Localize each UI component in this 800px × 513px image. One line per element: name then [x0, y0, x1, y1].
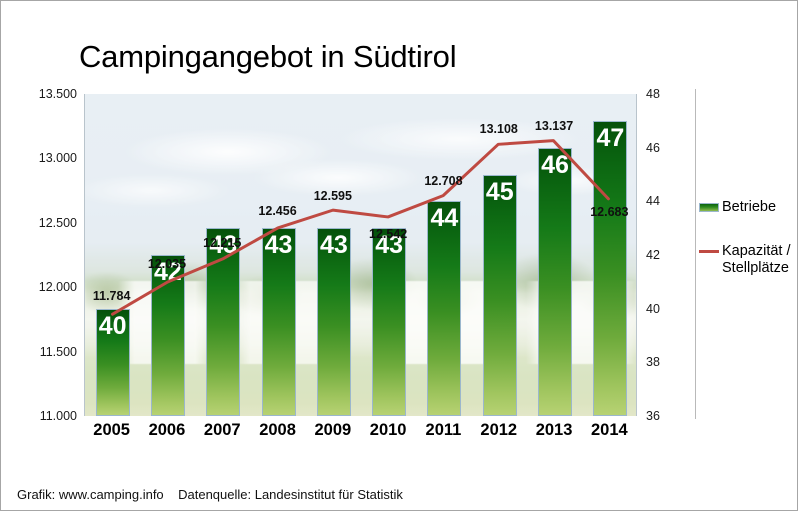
legend-bar-swatch-icon: [699, 203, 719, 212]
y-axis-right: 36384042444648: [646, 94, 686, 416]
y-left-tick-mark: [84, 352, 85, 353]
page-title: Campingangebot in Südtirol: [79, 39, 456, 75]
legend-line-swatch-icon: [699, 250, 719, 253]
line-value-label-2009: 12.595: [314, 189, 352, 203]
legend-item-kapazitaet[interactable]: Kapazität / Stellplätze: [699, 243, 795, 278]
y-right-tick-label: 46: [646, 141, 660, 155]
line-value-label-2010: 12.542: [369, 227, 407, 241]
y-right-tick-label: 48: [646, 87, 660, 101]
x-tick-label-2014: 2014: [591, 421, 628, 440]
legend-item-betriebe[interactable]: Betriebe: [699, 199, 795, 217]
legend-item-label: Kapazität / Stellplätze: [722, 243, 795, 278]
x-tick-label-2009: 2009: [314, 421, 351, 440]
line-value-label-2008: 12.456: [258, 204, 296, 218]
y-right-tick-mark: [636, 309, 637, 310]
y-left-tick-label: 12.500: [39, 216, 77, 230]
footer-credit: Grafik: www.camping.info Datenquelle: La…: [17, 487, 403, 502]
legend: Betriebe Kapazität / Stellplätze: [699, 199, 795, 304]
line-value-label-2014: 12.683: [590, 205, 628, 219]
line-series-kapazitaet: [85, 94, 636, 415]
y-left-tick-label: 12.000: [39, 280, 77, 294]
x-tick-label-2008: 2008: [259, 421, 296, 440]
chart-container: Campingangebot in Südtirol 4042434343434…: [0, 0, 798, 511]
y-left-tick-label: 11.000: [40, 409, 77, 423]
x-tick-label-2013: 2013: [536, 421, 573, 440]
line-value-label-2005: 11.784: [93, 289, 131, 303]
y-right-tick-mark: [636, 201, 637, 202]
y-right-tick-label: 36: [646, 409, 660, 423]
y-right-tick-label: 40: [646, 302, 660, 316]
x-axis: 2005200620072008200920102011201220132014: [84, 421, 637, 447]
line-value-label-2012: 13.108: [480, 122, 518, 136]
x-tick-label-2005: 2005: [93, 421, 130, 440]
y-right-tick-label: 44: [646, 194, 660, 208]
line-value-label-2013: 13.137: [535, 119, 573, 133]
y-right-tick-mark: [636, 362, 637, 363]
legend-item-label: Betriebe: [722, 199, 776, 217]
x-tick-label-2012: 2012: [480, 421, 517, 440]
y-right-tick-label: 42: [646, 248, 660, 262]
y-left-tick-mark: [84, 287, 85, 288]
y-left-tick-mark: [84, 94, 85, 95]
line-value-label-2006: 12.035: [148, 257, 186, 271]
x-tick-label-2007: 2007: [204, 421, 241, 440]
y-left-tick-label: 13.500: [39, 87, 77, 101]
line-value-label-2007: 12.215: [203, 236, 241, 250]
legend-divider: [695, 89, 696, 419]
y-axis-left: 11.00011.50012.00012.50013.00013.500: [19, 94, 77, 416]
y-right-tick-mark: [636, 94, 637, 95]
y-right-tick-mark: [636, 255, 637, 256]
plot-area: 40424343434344454647: [84, 94, 637, 416]
y-left-tick-label: 13.000: [39, 151, 77, 165]
x-tick-label-2006: 2006: [149, 421, 186, 440]
y-right-tick-label: 38: [646, 355, 660, 369]
y-left-tick-mark: [84, 223, 85, 224]
y-left-tick-label: 11.500: [40, 345, 77, 359]
x-tick-label-2011: 2011: [426, 421, 462, 440]
y-left-tick-mark: [84, 158, 85, 159]
line-value-label-2011: 12.708: [424, 174, 462, 188]
y-right-tick-mark: [636, 148, 637, 149]
x-tick-label-2010: 2010: [370, 421, 407, 440]
